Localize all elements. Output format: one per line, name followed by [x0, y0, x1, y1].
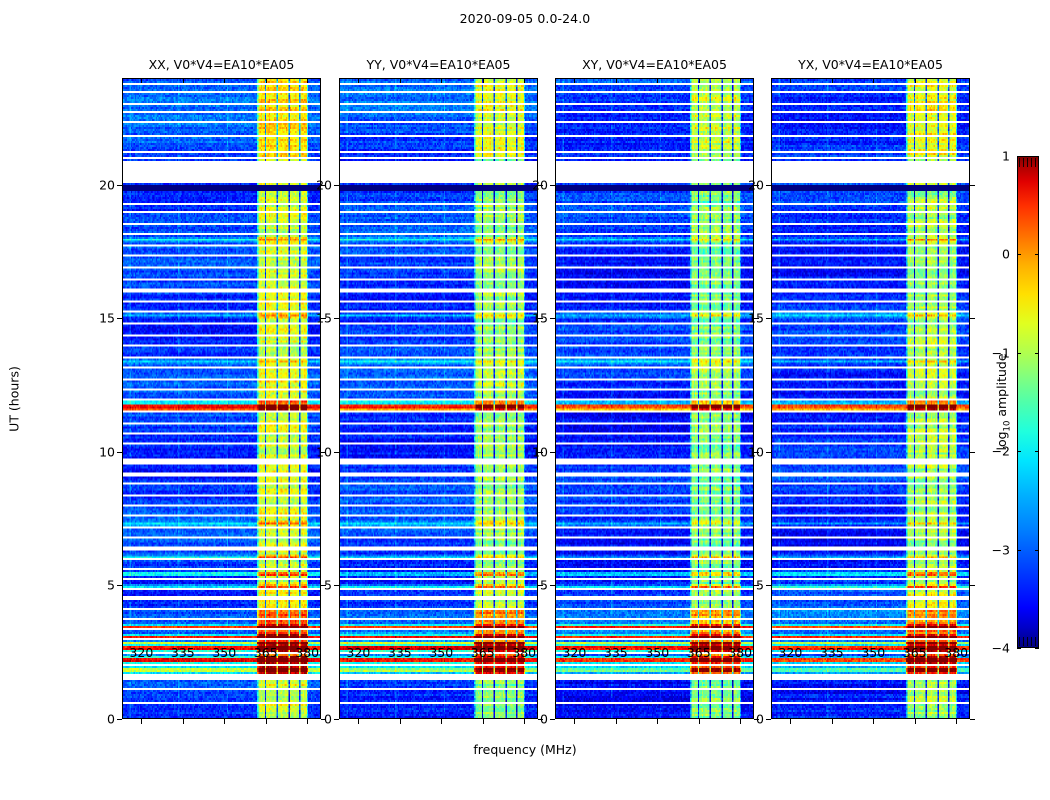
x-tick-top	[441, 78, 442, 83]
heatmap-image	[556, 79, 753, 718]
panel-title: XX, V0*V4=EA10*EA05	[122, 57, 321, 78]
y-tick	[550, 719, 555, 720]
x-tick-label: 320	[562, 645, 586, 660]
colorbar-gradient	[1017, 156, 1039, 648]
colorbar-cap-top	[1019, 158, 1037, 167]
colorbar-tick-right	[1035, 451, 1039, 452]
heatmap-image	[772, 79, 969, 718]
y-tick	[334, 452, 339, 453]
colorbar-tick	[1017, 451, 1021, 452]
y-tick-right	[970, 452, 975, 453]
colorbar-tick-label: 0	[1002, 247, 1010, 262]
y-tick	[550, 452, 555, 453]
x-tick-top	[574, 78, 575, 83]
x-tick-top	[699, 78, 700, 83]
x-tick-top	[956, 78, 957, 83]
x-tick-label: 350	[212, 645, 236, 660]
x-tick-label: 350	[861, 645, 885, 660]
colorbar-tick	[1017, 648, 1021, 649]
x-tick-label: 380	[295, 645, 319, 660]
x-tick-label: 320	[346, 645, 370, 660]
colorbar-tick	[1017, 353, 1021, 354]
y-tick	[117, 318, 122, 319]
colorbar: 10−1−2−3−4	[1017, 156, 1039, 648]
x-tick	[307, 719, 308, 724]
y-tick	[766, 719, 771, 720]
x-tick-label: 365	[687, 645, 711, 660]
x-tick	[790, 719, 791, 724]
colorbar-tick	[1017, 156, 1021, 157]
y-tick-right	[970, 318, 975, 319]
colorbar-tick-right	[1035, 550, 1039, 551]
x-tick-label: 365	[903, 645, 927, 660]
x-tick-label: 320	[778, 645, 802, 660]
y-tick-label: 0	[107, 712, 115, 727]
colorbar-label-sub: 10	[1002, 421, 1012, 432]
y-tick-label: 20	[532, 177, 548, 192]
y-tick	[766, 452, 771, 453]
x-tick	[832, 719, 833, 724]
y-tick-right	[970, 585, 975, 586]
panel-title: XY, V0*V4=EA10*EA05	[555, 57, 754, 78]
y-tick-label: 0	[324, 712, 332, 727]
x-tick-top	[400, 78, 401, 83]
x-tick	[483, 719, 484, 724]
panel-axes	[555, 78, 754, 719]
x-tick-top	[873, 78, 874, 83]
panel-title: YY, V0*V4=EA10*EA05	[339, 57, 538, 78]
y-tick-right	[970, 719, 975, 720]
y-tick	[117, 585, 122, 586]
y-tick	[766, 585, 771, 586]
x-tick	[616, 719, 617, 724]
y-tick	[334, 185, 339, 186]
heatmap-image	[340, 79, 537, 718]
x-tick	[441, 719, 442, 724]
x-tick-top	[358, 78, 359, 83]
x-tick	[740, 719, 741, 724]
x-tick	[657, 719, 658, 724]
x-tick-label: 335	[171, 645, 195, 660]
y-tick-label: 5	[107, 578, 115, 593]
x-tick-label: 380	[512, 645, 536, 660]
x-tick-top	[266, 78, 267, 83]
x-tick-top	[141, 78, 142, 83]
y-tick	[334, 719, 339, 720]
y-tick	[117, 452, 122, 453]
y-tick-label: 5	[540, 578, 548, 593]
x-tick	[141, 719, 142, 724]
colorbar-tick-label: −4	[992, 641, 1010, 656]
y-axis-label: UT (hours)	[7, 366, 22, 432]
colorbar-title: log10 amplitude	[994, 353, 1013, 450]
y-tick	[117, 719, 122, 720]
y-tick	[550, 185, 555, 186]
figure-title: 2020-09-05 0.0-24.0	[0, 11, 1050, 26]
x-tick-top	[183, 78, 184, 83]
x-tick-label: 380	[944, 645, 968, 660]
x-tick	[266, 719, 267, 724]
x-tick-label: 335	[388, 645, 412, 660]
y-tick-label: 10	[99, 444, 115, 459]
x-tick	[224, 719, 225, 724]
colorbar-tick-label: 1	[1002, 149, 1010, 164]
x-axis-label: frequency (MHz)	[0, 742, 1050, 757]
x-tick-top	[616, 78, 617, 83]
spectrum-panel-yy: YY, V0*V4=EA10*EA0505101520	[339, 78, 538, 719]
x-tick	[574, 719, 575, 724]
x-tick	[358, 719, 359, 724]
x-tick-label: 335	[820, 645, 844, 660]
x-tick	[915, 719, 916, 724]
x-tick-label: 335	[604, 645, 628, 660]
x-tick-top	[790, 78, 791, 83]
colorbar-tick	[1017, 550, 1021, 551]
x-tick-top	[524, 78, 525, 83]
y-tick-label: 20	[316, 177, 332, 192]
x-tick-top	[740, 78, 741, 83]
panel-axes	[771, 78, 970, 719]
x-tick-top	[307, 78, 308, 83]
x-tick-top	[915, 78, 916, 83]
x-tick	[524, 719, 525, 724]
colorbar-tick-right	[1035, 353, 1039, 354]
y-tick-label: 20	[99, 177, 115, 192]
panel-axes	[339, 78, 538, 719]
y-tick-label: 15	[748, 311, 764, 326]
colorbar-tick-right	[1035, 156, 1039, 157]
x-tick	[699, 719, 700, 724]
x-tick-label: 380	[728, 645, 752, 660]
y-tick-label: 0	[540, 712, 548, 727]
x-tick-top	[483, 78, 484, 83]
spectrum-panel-yx: YX, V0*V4=EA10*EA0505101520	[771, 78, 970, 719]
x-tick-top	[224, 78, 225, 83]
colorbar-label-main: log	[994, 431, 1009, 450]
y-tick-label: 10	[532, 444, 548, 459]
spectrum-panel-xy: XY, V0*V4=EA10*EA0505101520	[555, 78, 754, 719]
y-tick	[550, 318, 555, 319]
y-tick	[766, 318, 771, 319]
y-tick-label: 0	[756, 712, 764, 727]
y-tick-label: 15	[316, 311, 332, 326]
panel-title: YX, V0*V4=EA10*EA05	[771, 57, 970, 78]
x-tick-label: 365	[471, 645, 495, 660]
x-tick	[956, 719, 957, 724]
colorbar-tick-label: −3	[992, 542, 1010, 557]
y-tick-label: 20	[748, 177, 764, 192]
y-tick-label: 10	[316, 444, 332, 459]
x-tick-top	[657, 78, 658, 83]
y-tick-right	[970, 185, 975, 186]
y-tick	[334, 318, 339, 319]
y-tick-label: 15	[532, 311, 548, 326]
y-tick	[766, 185, 771, 186]
colorbar-tick-right	[1035, 648, 1039, 649]
y-tick-label: 15	[99, 311, 115, 326]
y-tick	[550, 585, 555, 586]
x-tick-label: 350	[645, 645, 669, 660]
y-tick-label: 5	[324, 578, 332, 593]
panel-axes	[122, 78, 321, 719]
x-tick	[183, 719, 184, 724]
x-tick-label: 350	[429, 645, 453, 660]
y-tick-label: 10	[748, 444, 764, 459]
colorbar-tick	[1017, 254, 1021, 255]
y-tick	[117, 185, 122, 186]
x-tick-label: 320	[129, 645, 153, 660]
colorbar-tick-right	[1035, 254, 1039, 255]
x-tick-top	[832, 78, 833, 83]
y-tick	[334, 585, 339, 586]
y-tick-label: 5	[756, 578, 764, 593]
heatmap-image	[123, 79, 320, 718]
x-tick-label: 365	[254, 645, 278, 660]
colorbar-label-tail: amplitude	[994, 353, 1009, 420]
colorbar-cap-bottom	[1019, 637, 1037, 646]
x-tick	[400, 719, 401, 724]
spectrum-panel-xx: XX, V0*V4=EA10*EA0505101520	[122, 78, 321, 719]
x-tick	[873, 719, 874, 724]
